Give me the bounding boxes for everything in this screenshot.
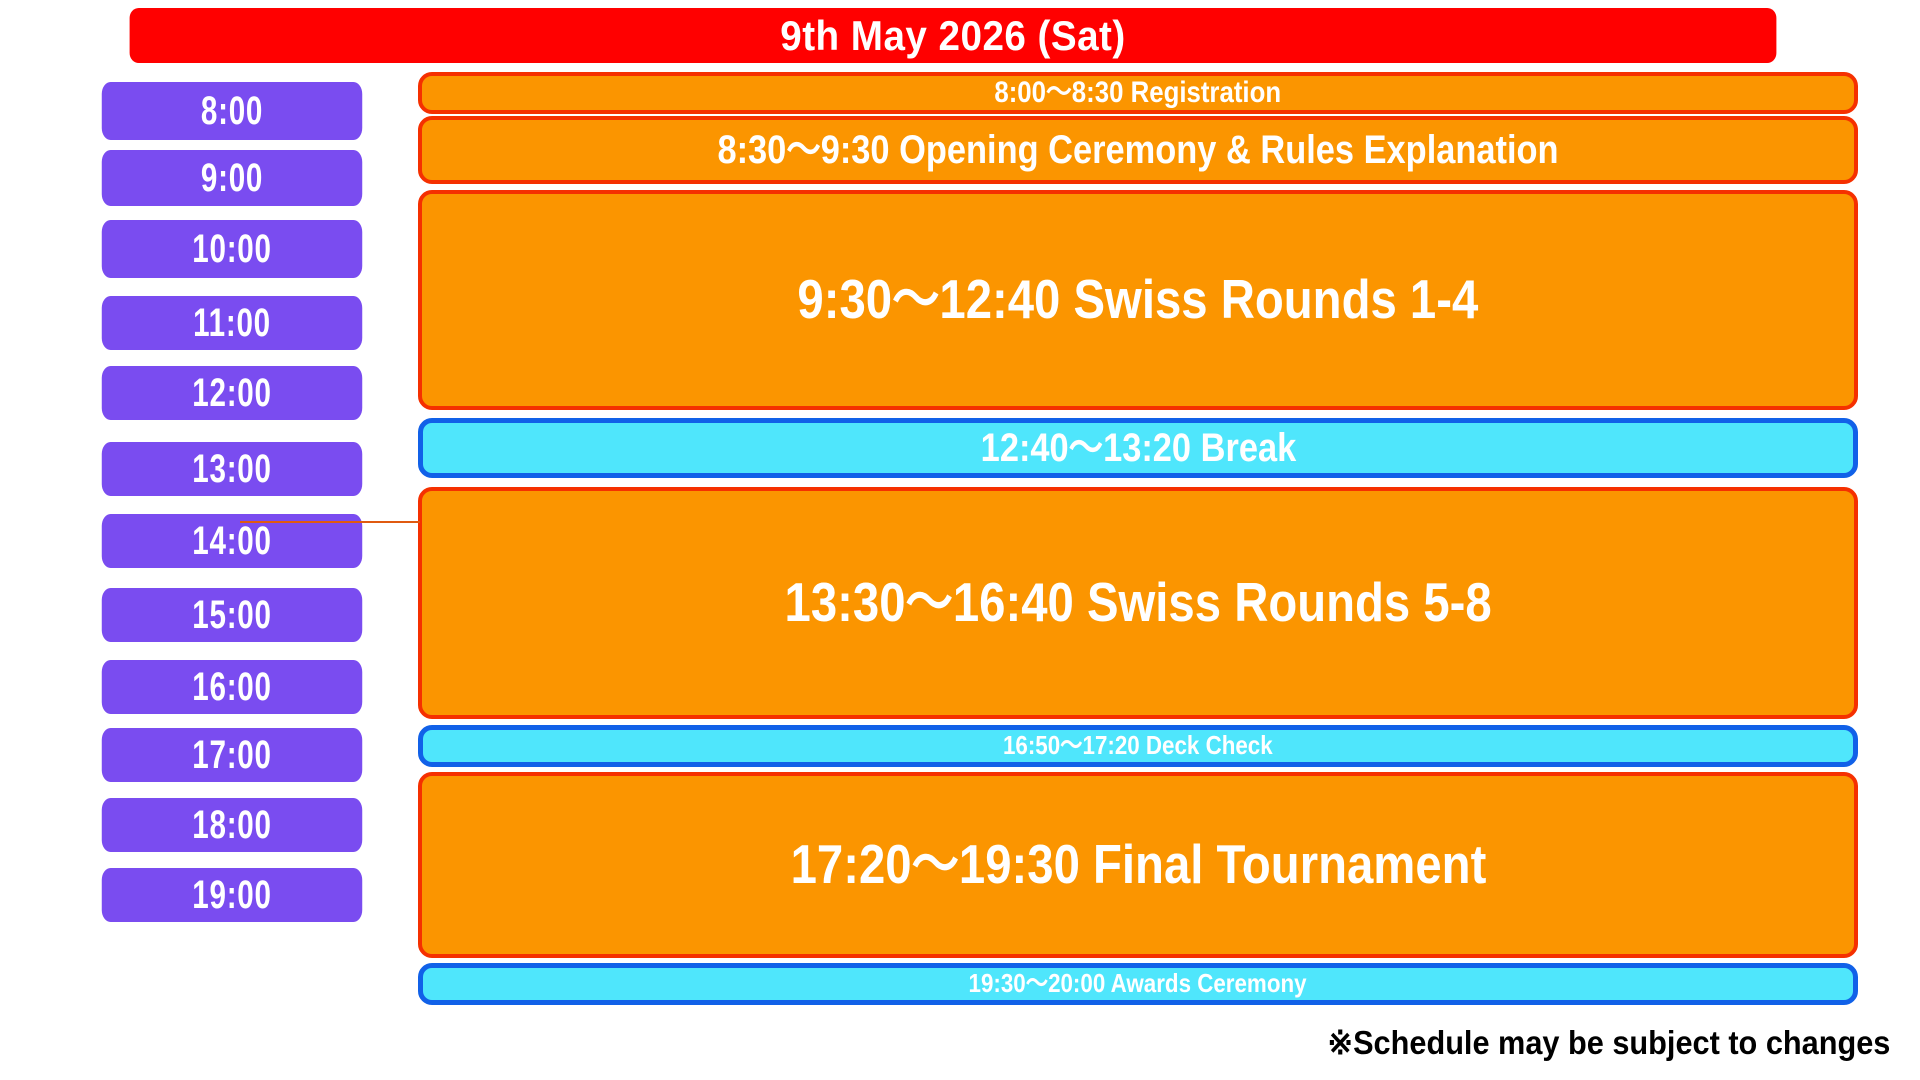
stray-rule-artifact: [240, 521, 420, 523]
event-block-deck-check: 16:50～17:20 Deck Check: [418, 725, 1858, 767]
event-label: 19:30～20:00 Awards Ceremony: [969, 970, 1307, 997]
time-label-text: 8:00: [201, 89, 263, 134]
event-block-opening-ceremony: 8:30～9:30 Opening Ceremony & Rules Expla…: [418, 116, 1858, 184]
time-label-4: 12:00: [102, 366, 362, 420]
event-label: 16:50～17:20 Deck Check: [1003, 732, 1273, 759]
time-label-text: 19:00: [192, 873, 271, 918]
time-label-8: 16:00: [102, 660, 362, 714]
time-label-3: 11:00: [102, 296, 362, 350]
event-label: 17:20～19:30 Final Tournament: [790, 836, 1486, 894]
time-label-text: 18:00: [192, 803, 271, 848]
schedule-poster: 9th May 2026 (Sat) 8:00 9:00 10:00 11:00…: [0, 0, 1920, 1080]
time-label-9: 17:00: [102, 728, 362, 782]
page-title: 9th May 2026 (Sat): [130, 8, 1777, 63]
event-block-awards-ceremony: 19:30～20:00 Awards Ceremony: [418, 963, 1858, 1005]
event-block-swiss-rounds-5-8: 13:30～16:40 Swiss Rounds 5-8: [418, 487, 1858, 719]
event-label: 8:30～9:30 Opening Ceremony & Rules Expla…: [717, 129, 1558, 171]
event-block-registration: 8:00～8:30 Registration: [418, 72, 1858, 114]
time-label-text: 14:00: [192, 519, 271, 564]
event-block-break: 12:40～13:20 Break: [418, 418, 1858, 478]
time-label-text: 9:00: [201, 156, 263, 201]
time-label-text: 11:00: [193, 301, 271, 346]
time-label-text: 15:00: [192, 593, 271, 638]
time-label-text: 12:00: [192, 371, 271, 416]
event-label: 8:00～8:30 Registration: [995, 77, 1282, 109]
event-block-final-tournament: 17:20～19:30 Final Tournament: [418, 772, 1858, 958]
event-label: 9:30～12:40 Swiss Rounds 1-4: [798, 271, 1479, 329]
time-label-2: 10:00: [102, 220, 362, 278]
time-label-1: 9:00: [102, 150, 362, 206]
event-label: 12:40～13:20 Break: [980, 427, 1296, 469]
time-label-text: 13:00: [192, 447, 271, 492]
time-label-5: 13:00: [102, 442, 362, 496]
time-label-text: 10:00: [192, 227, 271, 272]
time-label-11: 19:00: [102, 868, 362, 922]
time-label-7: 15:00: [102, 588, 362, 642]
event-block-swiss-rounds-1-4: 9:30～12:40 Swiss Rounds 1-4: [418, 190, 1858, 410]
time-label-10: 18:00: [102, 798, 362, 852]
time-label-0: 8:00: [102, 82, 362, 140]
footer-note: ※Schedule may be subject to changes: [1327, 1023, 1890, 1062]
time-label-text: 17:00: [192, 733, 271, 778]
time-label-text: 16:00: [192, 665, 271, 710]
event-label: 13:30～16:40 Swiss Rounds 5-8: [784, 574, 1491, 632]
